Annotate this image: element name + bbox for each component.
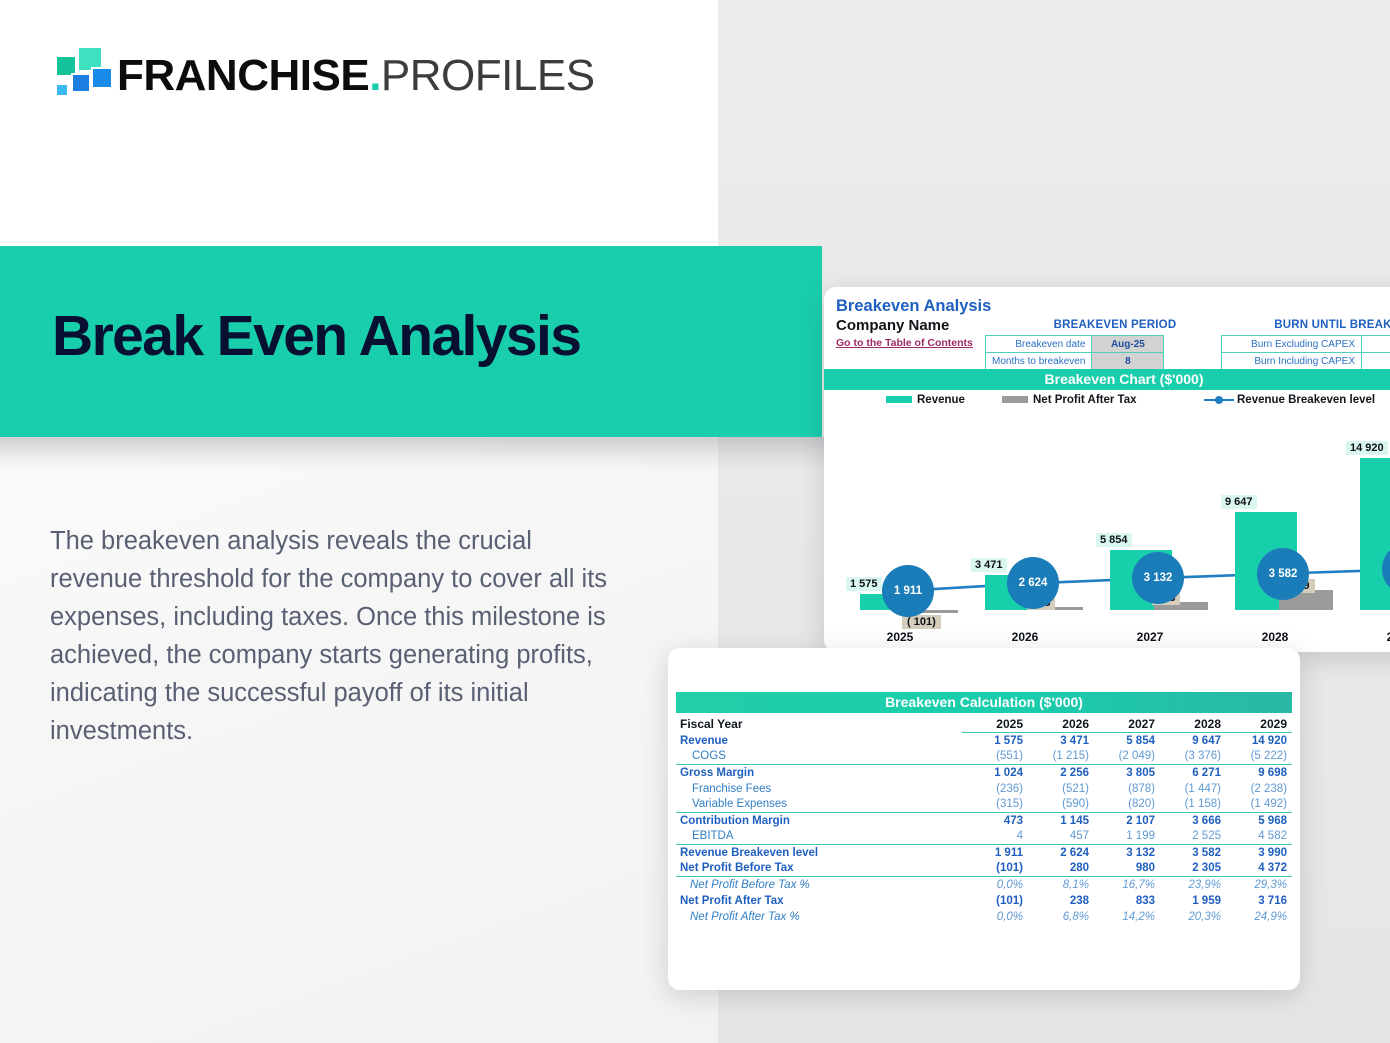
table-cell: 3 132 xyxy=(1094,845,1160,861)
column-header-year: 2028 xyxy=(1160,716,1226,733)
table-cell: (820) xyxy=(1094,797,1160,813)
table-cell: (101) xyxy=(962,893,1028,909)
chart-label-revenue: 9 647 xyxy=(1221,495,1257,509)
table-cell: 2 107 xyxy=(1094,813,1160,829)
table-row: Months to breakeven 8 xyxy=(986,353,1164,370)
burn-until-breakeven-table: Burn Excluding CAPEX Burn Including CAPE… xyxy=(1221,335,1390,370)
table-cell: 0,0% xyxy=(962,877,1028,893)
table-cell: (5 222) xyxy=(1226,749,1292,765)
table-cell: 3 666 xyxy=(1160,813,1226,829)
column-header-year: 2029 xyxy=(1226,716,1292,733)
chart-card-company: Company Name xyxy=(836,317,949,334)
legend-item-revenue-breakeven-level: Revenue Breakeven level xyxy=(1204,394,1375,406)
breakeven-calculation-table: Fiscal Year 2025 2026 2027 2028 2029 Rev… xyxy=(676,716,1292,925)
row-label: Revenue xyxy=(676,733,962,749)
table-cell: 14 920 xyxy=(1226,733,1292,749)
table-cell: 1 024 xyxy=(962,765,1028,781)
table-row: COGS(551)(1 215)(2 049)(3 376)(5 222) xyxy=(676,749,1292,765)
table-cell: 0,0% xyxy=(962,909,1028,925)
chart-x-axis-label: 2029 xyxy=(1355,630,1390,644)
table-cell: 4 582 xyxy=(1226,829,1292,845)
table-cell: 280 xyxy=(1028,861,1094,877)
table-row: Revenue Breakeven level1 9112 6243 1323 … xyxy=(676,845,1292,861)
table-row: Revenue1 5753 4715 8549 64714 920 xyxy=(676,733,1292,749)
logo-word-bold: FRANCHISE xyxy=(117,51,369,100)
page-title: Break Even Analysis xyxy=(52,303,580,369)
table-cell: 1 575 xyxy=(962,733,1028,749)
table-cell: 5 854 xyxy=(1094,733,1160,749)
table-cell: 1 199 xyxy=(1094,829,1160,845)
table-cell: (2 049) xyxy=(1094,749,1160,765)
background-top-left xyxy=(0,0,718,246)
row-label: Revenue Breakeven level xyxy=(676,845,962,861)
table-row: Contribution Margin4731 1452 1073 6665 9… xyxy=(676,813,1292,829)
legend-swatch-icon xyxy=(886,396,912,403)
table-cell: (236) xyxy=(962,781,1028,797)
table-cell: 29,3% xyxy=(1226,877,1292,893)
row-label: Net Profit Before Tax % xyxy=(676,877,962,893)
table-cell: 14,2% xyxy=(1094,909,1160,925)
chart-label-net-profit-after-tax: ( 101) xyxy=(902,615,941,629)
table-cell: 6,8% xyxy=(1028,909,1094,925)
table-row: Net Profit After Tax(101)2388331 9593 71… xyxy=(676,893,1292,909)
table-cell: 833 xyxy=(1094,893,1160,909)
table-cell: 2 305 xyxy=(1160,861,1226,877)
table-cell: 3 990 xyxy=(1226,845,1292,861)
burn-including-capex-label: Burn Including CAPEX xyxy=(1222,353,1362,370)
table-cell: 2 624 xyxy=(1028,845,1094,861)
table-cell: 24,9% xyxy=(1226,909,1292,925)
legend-label: Revenue xyxy=(917,394,965,406)
table-cell: 2 525 xyxy=(1160,829,1226,845)
table-cell: 5 968 xyxy=(1226,813,1292,829)
table-cell: 980 xyxy=(1094,861,1160,877)
table-row: Burn Including CAPEX xyxy=(1222,353,1390,370)
table-row: Breakeven date Aug-25 xyxy=(986,336,1164,353)
chart-bar-revenue xyxy=(1360,458,1390,610)
row-label: Variable Expenses xyxy=(676,797,962,813)
table-cell: (2 238) xyxy=(1226,781,1292,797)
calc-table-banner: Breakeven Calculation ($'000) xyxy=(676,692,1292,713)
row-label: Net Profit Before Tax xyxy=(676,861,962,877)
table-cell: 1 911 xyxy=(962,845,1028,861)
legend-swatch-icon xyxy=(1002,396,1028,403)
table-row: Net Profit Before Tax(101)2809802 3054 3… xyxy=(676,861,1292,877)
table-cell: 4 372 xyxy=(1226,861,1292,877)
chart-card-title: Breakeven Analysis xyxy=(836,297,991,316)
table-cell: 23,9% xyxy=(1160,877,1226,893)
chart-legend: Revenue Net Profit After Tax Revenue Bre… xyxy=(824,393,1390,411)
brand-logo[interactable]: FRANCHISE.PROFILES xyxy=(47,45,537,107)
column-header-year: 2027 xyxy=(1094,716,1160,733)
logo-wordmark: FRANCHISE.PROFILES xyxy=(117,45,595,107)
table-cell: (590) xyxy=(1028,797,1094,813)
logo-word-light: PROFILES xyxy=(381,51,595,100)
breakeven-period-table: Breakeven date Aug-25 Months to breakeve… xyxy=(985,335,1164,370)
table-row: Burn Excluding CAPEX xyxy=(1222,336,1390,353)
table-cell: 8,1% xyxy=(1028,877,1094,893)
column-header-year: 2025 xyxy=(962,716,1028,733)
breakeven-date-value: Aug-25 xyxy=(1092,336,1164,353)
chart-x-axis-label: 2027 xyxy=(1105,630,1195,644)
table-row: Franchise Fees(236)(521)(878)(1 447)(2 2… xyxy=(676,781,1292,797)
column-header-year: 2026 xyxy=(1028,716,1094,733)
intro-paragraph: The breakeven analysis reveals the cruci… xyxy=(50,522,630,750)
table-of-contents-link[interactable]: Go to the Table of Contents xyxy=(836,337,973,349)
logo-word-dot: . xyxy=(369,51,381,100)
table-cell: (101) xyxy=(962,861,1028,877)
legend-item-revenue: Revenue xyxy=(886,394,965,406)
table-cell: (315) xyxy=(962,797,1028,813)
table-cell: (1 158) xyxy=(1160,797,1226,813)
table-row: Variable Expenses(315)(590)(820)(1 158)(… xyxy=(676,797,1292,813)
row-label: EBITDA xyxy=(676,829,962,845)
row-label: Contribution Margin xyxy=(676,813,962,829)
chart-plot-area: 1 575( 101)1 91120253 4712382 62420265 8… xyxy=(824,415,1390,652)
table-cell: (521) xyxy=(1028,781,1094,797)
table-cell: 6 271 xyxy=(1160,765,1226,781)
chart-x-axis-label: 2026 xyxy=(980,630,1070,644)
months-to-breakeven-label: Months to breakeven xyxy=(986,353,1092,370)
breakeven-period-heading: BREAKEVEN PERIOD xyxy=(1010,319,1220,331)
column-header-fiscal-year: Fiscal Year xyxy=(676,716,962,733)
table-cell: 1 959 xyxy=(1160,893,1226,909)
legend-item-net-profit-after-tax: Net Profit After Tax xyxy=(1002,394,1137,406)
table-cell: (3 376) xyxy=(1160,749,1226,765)
months-to-breakeven-value: 8 xyxy=(1092,353,1164,370)
burn-excluding-capex-value xyxy=(1362,336,1390,353)
chart-banner: Breakeven Chart ($'000) xyxy=(824,369,1390,390)
chart-marker-breakeven-level: 2 624 xyxy=(1007,557,1059,609)
table-cell: (1 492) xyxy=(1226,797,1292,813)
table-row: Net Profit After Tax %0,0%6,8%14,2%20,3%… xyxy=(676,909,1292,925)
row-label: Gross Margin xyxy=(676,765,962,781)
table-row: Gross Margin1 0242 2563 8056 2719 698 xyxy=(676,765,1292,781)
chart-x-axis-label: 2025 xyxy=(855,630,945,644)
breakeven-chart-card: Breakeven Analysis Company Name Go to th… xyxy=(824,287,1390,652)
chart-label-revenue: 14 920 xyxy=(1346,441,1388,455)
chart-marker-breakeven-level: 3 582 xyxy=(1257,548,1309,600)
row-label: COGS xyxy=(676,749,962,765)
slide-canvas: FRANCHISE.PROFILES Break Even Analysis T… xyxy=(0,0,1390,1043)
table-cell: 9 647 xyxy=(1160,733,1226,749)
table-cell: 16,7% xyxy=(1094,877,1160,893)
burn-including-capex-value xyxy=(1362,353,1390,370)
row-label: Net Profit After Tax xyxy=(676,893,962,909)
table-cell: 3 471 xyxy=(1028,733,1094,749)
table-cell: 2 256 xyxy=(1028,765,1094,781)
row-label: Franchise Fees xyxy=(676,781,962,797)
table-cell: 9 698 xyxy=(1226,765,1292,781)
chart-label-revenue: 5 854 xyxy=(1096,533,1132,547)
logo-mark-icon xyxy=(47,45,107,95)
burn-until-breakeven-heading: BURN UNTIL BREAKEVEN xyxy=(1224,319,1390,331)
table-cell: (1 447) xyxy=(1160,781,1226,797)
table-cell: 473 xyxy=(962,813,1028,829)
chart-marker-breakeven-level: 3 132 xyxy=(1132,552,1184,604)
table-header-row: Fiscal Year 2025 2026 2027 2028 2029 xyxy=(676,716,1292,733)
chart-marker-breakeven-level: 1 911 xyxy=(882,565,934,617)
table-cell: 1 145 xyxy=(1028,813,1094,829)
row-label: Net Profit After Tax % xyxy=(676,909,962,925)
breakeven-date-label: Breakeven date xyxy=(986,336,1092,353)
table-cell: (1 215) xyxy=(1028,749,1094,765)
breakeven-calculation-card: Breakeven Calculation ($'000) Fiscal Yea… xyxy=(668,648,1300,990)
table-cell: 20,3% xyxy=(1160,909,1226,925)
table-cell: 238 xyxy=(1028,893,1094,909)
table-row: EBITDA44571 1992 5254 582 xyxy=(676,829,1292,845)
table-cell: 4 xyxy=(962,829,1028,845)
table-cell: 3 805 xyxy=(1094,765,1160,781)
legend-line-marker-icon xyxy=(1204,396,1234,404)
chart-label-revenue: 1 575 xyxy=(846,577,882,591)
table-row: Net Profit Before Tax %0,0%8,1%16,7%23,9… xyxy=(676,877,1292,893)
legend-label: Net Profit After Tax xyxy=(1033,394,1137,406)
table-cell: (878) xyxy=(1094,781,1160,797)
table-cell: (551) xyxy=(962,749,1028,765)
chart-x-axis-label: 2028 xyxy=(1230,630,1320,644)
table-cell: 457 xyxy=(1028,829,1094,845)
table-cell: 3 582 xyxy=(1160,845,1226,861)
chart-label-revenue: 3 471 xyxy=(971,558,1007,572)
burn-excluding-capex-label: Burn Excluding CAPEX xyxy=(1222,336,1362,353)
table-cell: 3 716 xyxy=(1226,893,1292,909)
legend-label: Revenue Breakeven level xyxy=(1237,394,1375,406)
